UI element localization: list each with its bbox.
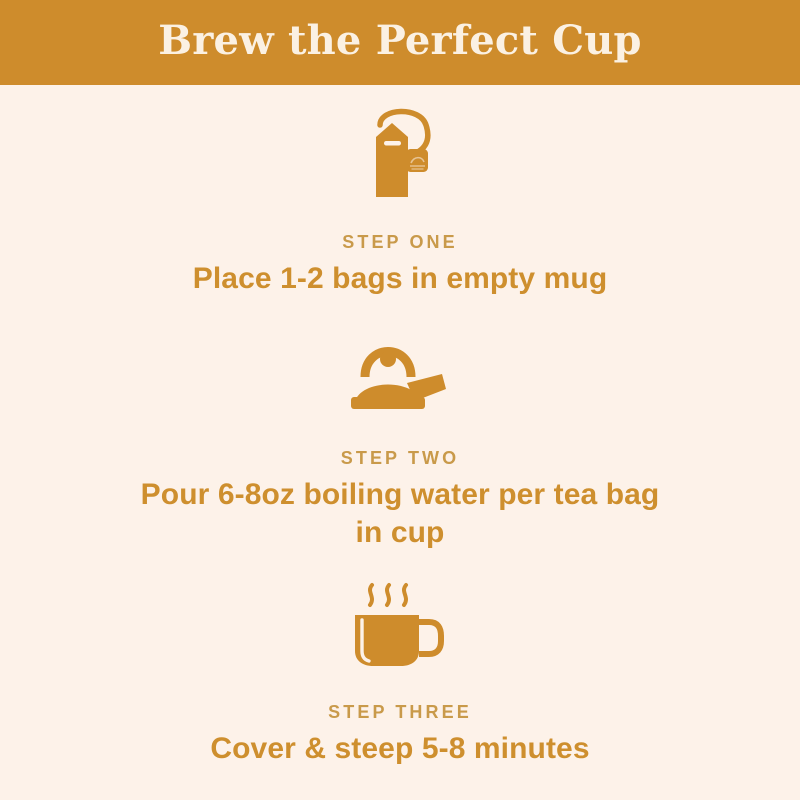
kettle-icon <box>345 331 455 417</box>
steps-list: STEP ONE Place 1-2 bags in empty mug STE… <box>0 85 800 768</box>
header-bar: Brew the Perfect Cup <box>0 0 800 85</box>
page-title: Brew the Perfect Cup <box>158 19 641 67</box>
step-description: Cover & steep 5-8 minutes <box>210 730 589 768</box>
step-description: Place 1-2 bags in empty mug <box>193 260 608 298</box>
step-label: STEP THREE <box>328 701 472 723</box>
step-item: STEP THREE Cover & steep 5-8 minutes <box>0 552 800 768</box>
step-label: STEP TWO <box>341 447 459 469</box>
steam-lines <box>370 585 406 605</box>
steaming-mug-icon <box>345 581 455 671</box>
step-description: Pour 6-8oz boiling water per tea bag in … <box>140 476 660 552</box>
step-item: STEP TWO Pour 6-8oz boiling water per te… <box>0 298 800 552</box>
step-item: STEP ONE Place 1-2 bags in empty mug <box>0 85 800 298</box>
step-label: STEP ONE <box>342 231 458 253</box>
tea-bag-icon <box>340 103 460 203</box>
brew-instructions-infographic: Brew the Perfect Cup STEP ONE Place 1- <box>0 0 800 800</box>
